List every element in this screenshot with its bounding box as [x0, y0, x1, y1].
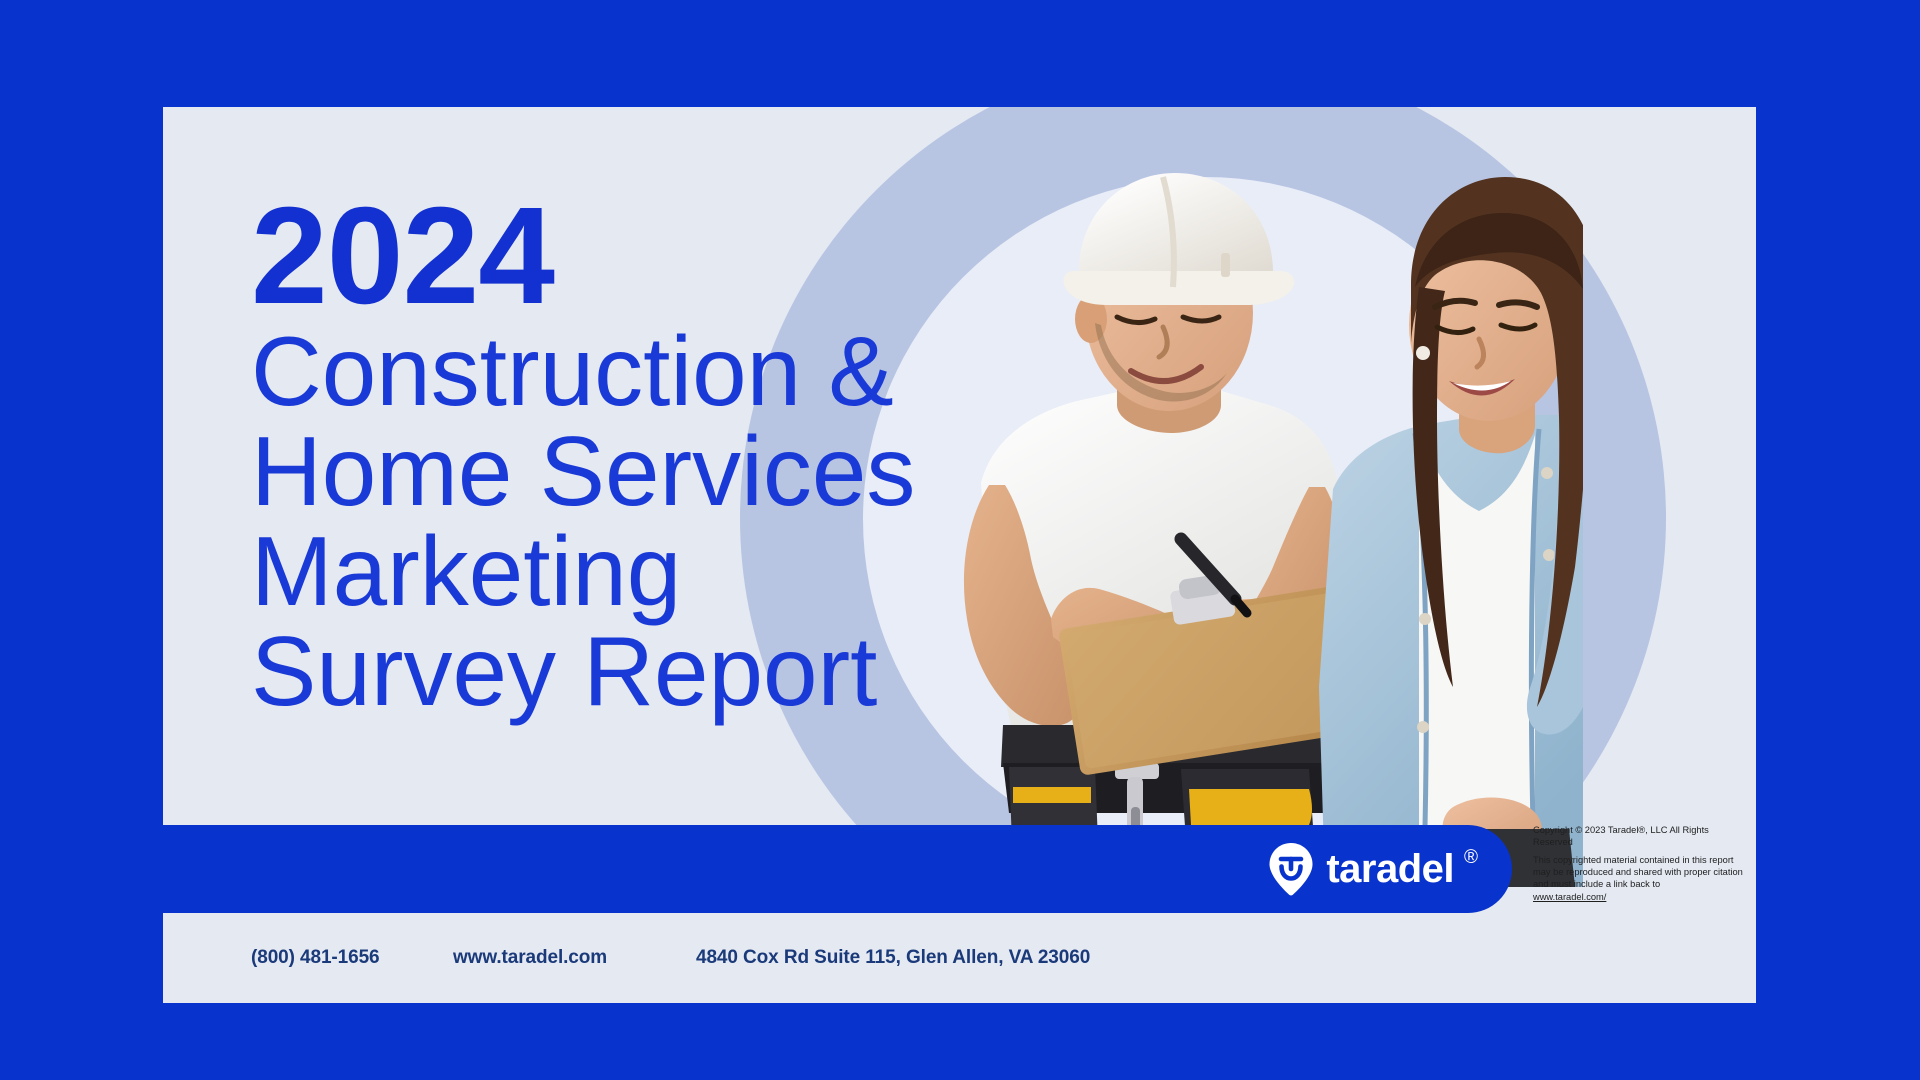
poster-card: 2024 Construction & Home Services Market…: [163, 107, 1756, 1003]
copyright-line: Copyright © 2023 Taradel®, LLC All Right…: [1533, 824, 1747, 849]
footer-phone[interactable]: (800) 481-1656: [251, 947, 380, 969]
location-pin-smile-icon: [1268, 842, 1314, 896]
footer-address: 4840 Cox Rd Suite 115, Glen Allen, VA 23…: [696, 947, 1090, 969]
copyright-link[interactable]: www.taradel.com/: [1533, 891, 1747, 903]
logo-wordmark: taradel: [1326, 849, 1454, 889]
taradel-logo[interactable]: taradel ®: [1268, 842, 1478, 896]
footer-website[interactable]: www.taradel.com: [453, 947, 607, 969]
registered-trademark-icon: ®: [1464, 848, 1478, 867]
brand-band: taradel ®: [163, 825, 1512, 913]
title-line-4: Survey Report: [251, 622, 915, 722]
title-line-1: Construction &: [251, 322, 915, 422]
copyright-block: Copyright © 2023 Taradel®, LLC All Right…: [1533, 824, 1747, 903]
copyright-body: This copyrighted material contained in t…: [1533, 854, 1747, 891]
page-title: 2024 Construction & Home Services Market…: [251, 192, 915, 722]
title-line-2: Home Services: [251, 422, 915, 522]
hero-photo: [863, 167, 1583, 887]
footer-bar: (800) 481-1656 www.taradel.com 4840 Cox …: [163, 913, 1756, 1003]
poster-canvas: 2024 Construction & Home Services Market…: [0, 0, 1920, 1080]
title-year: 2024: [251, 192, 915, 322]
title-line-3: Marketing: [251, 522, 915, 622]
